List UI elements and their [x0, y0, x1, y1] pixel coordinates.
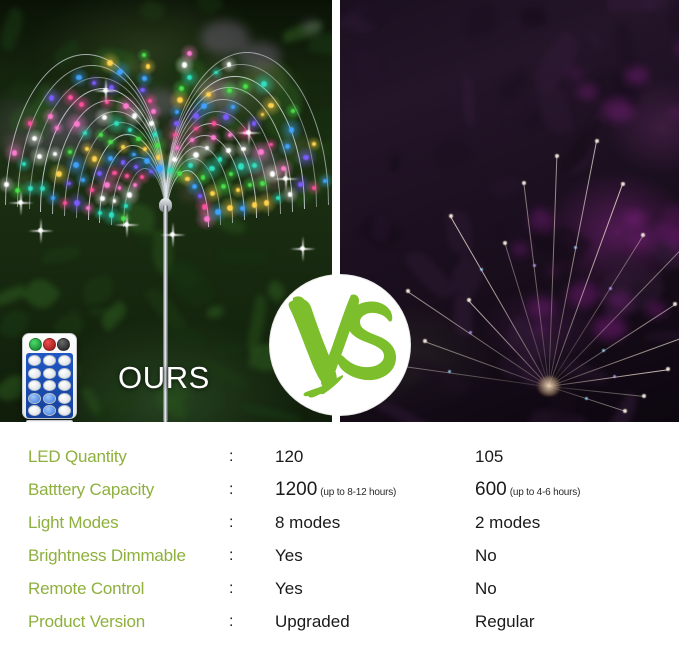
led-bulb [148, 99, 152, 103]
led-bulb [107, 60, 113, 66]
remote-key[interactable] [58, 405, 71, 416]
led-bulb [113, 199, 117, 203]
led-bulb [172, 157, 177, 162]
spec-row: LED Quantity:120105 [0, 440, 679, 473]
wire-hub [536, 376, 562, 396]
led-bulb [51, 196, 55, 200]
led-bulb [74, 200, 80, 206]
spec-label: Light Modes [28, 513, 118, 533]
spec-value-ours-value: Yes [275, 546, 303, 565]
light-sparkle [124, 222, 129, 227]
remote-key[interactable] [43, 355, 56, 366]
spec-row: Brightness Dimmable:YesNo [0, 539, 679, 572]
led-bulb [227, 62, 231, 66]
purple-flower [593, 316, 626, 341]
spec-value-ours-value: Upgraded [275, 612, 350, 631]
led-bulb [79, 102, 84, 107]
led-bulb [175, 146, 179, 150]
led-bulb [269, 143, 273, 147]
led-bulb [609, 287, 612, 290]
spec-value-others-note: (up to 4-6 hours) [510, 487, 581, 498]
wire-tip-led [623, 409, 627, 413]
remote-key[interactable] [43, 368, 56, 379]
remote-mode-button[interactable] [57, 338, 70, 351]
led-bulb [74, 121, 80, 127]
remote-key[interactable] [28, 368, 41, 379]
spec-colon: : [229, 613, 233, 631]
led-bulb [187, 51, 192, 56]
light-sparkle [18, 200, 23, 205]
led-bulb [76, 75, 81, 80]
led-bulb [155, 143, 160, 148]
spec-value-others-value: 2 modes [475, 513, 540, 532]
remote-power-on-button[interactable] [29, 338, 42, 351]
led-bulb [142, 76, 147, 81]
led-bulb [173, 133, 177, 137]
spec-value-others-value: No [475, 546, 497, 565]
vs-brush-icon [281, 291, 399, 399]
wire-tip-led [621, 182, 625, 186]
led-bulb [108, 140, 112, 144]
led-bulb [261, 81, 267, 87]
led-bulb [12, 150, 18, 156]
led-bulb [92, 156, 98, 162]
led-bulb [252, 163, 257, 168]
spec-value-others: Regular [475, 612, 535, 632]
led-bulb [285, 144, 290, 149]
spec-value-ours-note: (up to 8-12 hours) [320, 487, 396, 498]
wire-tip-led [503, 241, 507, 245]
spec-value-others-value: 600 [475, 479, 507, 500]
spec-value-ours-value: 8 modes [275, 513, 340, 532]
spec-value-ours: 1200(up to 8-12 hours) [275, 479, 396, 501]
remote-key[interactable] [58, 393, 71, 404]
light-sparkle [300, 246, 305, 251]
purple-flower [670, 108, 679, 117]
led-bulb [248, 183, 252, 187]
led-bulb [99, 133, 103, 137]
light-sparkle [283, 176, 288, 181]
led-bulb [146, 64, 150, 68]
led-bulb [114, 121, 119, 126]
purple-flower [548, 267, 559, 275]
versus-badge [270, 275, 410, 415]
spec-value-ours-value: 120 [275, 447, 303, 466]
led-bulb [323, 179, 327, 183]
led-bulb [90, 188, 94, 192]
spec-value-ours: 120 [275, 447, 303, 467]
remote-key[interactable] [58, 368, 71, 379]
led-bulb [151, 109, 156, 114]
led-bulb [132, 153, 136, 157]
led-bulb [100, 196, 104, 200]
remote-power-off-button[interactable] [43, 338, 56, 351]
spec-value-others: 105 [475, 447, 503, 467]
purple-flower [629, 229, 659, 252]
led-bulb [211, 135, 215, 139]
led-bulb [144, 158, 150, 164]
led-bulb [121, 160, 125, 164]
led-bulb [258, 149, 264, 155]
led-bulb [97, 171, 102, 176]
spec-value-others: 2 modes [475, 513, 540, 533]
remote-battery-cover [26, 420, 73, 422]
led-bulb [109, 212, 114, 217]
spec-value-others: 600(up to 4-6 hours) [475, 479, 580, 501]
led-bulb [312, 186, 316, 190]
led-bulb [73, 162, 79, 168]
led-bulb [312, 142, 316, 146]
led-bulb [231, 105, 235, 109]
wire-tip-led [522, 181, 526, 185]
spec-label: Product Version [28, 612, 145, 632]
wire-tip-led [406, 289, 410, 293]
light-sparkle [246, 130, 251, 135]
led-bulb [68, 150, 72, 154]
led-bulb [227, 88, 232, 93]
led-bulb [48, 114, 52, 118]
led-bulb [291, 109, 295, 113]
spec-value-ours: Upgraded [275, 612, 350, 632]
led-bulb [49, 95, 54, 100]
led-bulb [55, 126, 59, 130]
led-bulb [142, 53, 146, 57]
remote-key[interactable] [58, 355, 71, 366]
spec-value-others: No [475, 579, 497, 599]
led-bulb [134, 165, 138, 169]
led-bulb [68, 95, 73, 100]
wire-tip-led [595, 139, 599, 143]
spec-row: Remote Control:YesNo [0, 572, 679, 605]
spec-colon: : [229, 547, 233, 565]
spec-row: Batttery Capacity:1200(up to 8-12 hours)… [0, 473, 679, 506]
photo-band: OURS OTHERS [0, 0, 679, 422]
remote-key[interactable] [28, 405, 41, 416]
led-bulb [469, 331, 472, 334]
led-bulb [241, 147, 246, 152]
led-bulb [264, 200, 270, 206]
led-bulb [243, 84, 248, 89]
led-bulb [149, 121, 154, 126]
remote-key[interactable] [43, 380, 56, 391]
led-bulb [81, 178, 85, 182]
led-bulb [125, 174, 129, 178]
spec-value-ours: Yes [275, 546, 303, 566]
led-bulb [190, 138, 194, 142]
led-bulb [136, 137, 141, 142]
spec-colon: : [229, 580, 233, 598]
remote-key[interactable] [43, 393, 56, 404]
led-bulb [123, 103, 129, 109]
purple-flower [528, 213, 555, 233]
blurred-flower [201, 21, 249, 55]
spec-value-others-value: Regular [475, 612, 535, 631]
led-bulb [228, 133, 232, 137]
led-bulb [226, 148, 231, 153]
spec-row: Product Version:UpgradedRegular [0, 605, 679, 638]
led-bulb [221, 184, 227, 190]
led-bulb [268, 103, 274, 109]
spec-colon: : [229, 514, 233, 532]
led-bulb [288, 192, 293, 197]
spec-label: Batttery Capacity [28, 480, 154, 500]
led-bulb [214, 71, 218, 75]
spec-row: Light Modes:8 modes2 modes [0, 506, 679, 539]
purple-flower [567, 282, 600, 307]
led-bulb [252, 121, 257, 126]
led-bulb [153, 132, 157, 136]
led-bulb [104, 182, 110, 188]
led-bulb [92, 81, 96, 85]
light-sparkle [103, 88, 108, 93]
spec-value-others-value: No [475, 579, 497, 598]
spec-comparison-table: LED Quantity:120105Batttery Capacity:120… [0, 440, 679, 638]
label-ours: OURS [118, 360, 210, 396]
remote-key[interactable] [28, 355, 41, 366]
spec-label: LED Quantity [28, 447, 127, 467]
remote-key[interactable] [58, 380, 71, 391]
spec-label: Brightness Dimmable [28, 546, 186, 566]
led-bulb [303, 155, 309, 161]
led-bulb [108, 156, 113, 161]
spec-colon: : [229, 481, 233, 499]
led-bulb [174, 121, 179, 126]
light-sparkle [170, 232, 175, 237]
led-bulb [4, 182, 9, 187]
led-bulb [140, 88, 144, 92]
remote-keypad[interactable] [26, 353, 73, 418]
spec-colon: : [229, 448, 233, 466]
led-bulb [236, 188, 240, 192]
led-bulb [56, 171, 62, 177]
remote-control[interactable] [22, 333, 77, 419]
led-bulb [98, 211, 102, 215]
led-bulb [102, 115, 107, 120]
purple-flower [646, 302, 666, 317]
spec-value-ours: 8 modes [275, 513, 340, 533]
led-bulb [28, 186, 33, 191]
wire-tip-led [423, 339, 427, 343]
spec-label: Remote Control [28, 579, 144, 599]
led-bulb [124, 204, 128, 208]
led-bulb [40, 186, 45, 191]
remote-key[interactable] [28, 380, 41, 391]
led-bulb [22, 162, 26, 166]
led-bulb [179, 86, 184, 91]
led-bulb [85, 147, 89, 151]
spec-value-ours-value: 1200 [275, 479, 317, 500]
wire-tip-led [467, 298, 471, 302]
led-bulb [121, 145, 125, 149]
spec-value-ours: Yes [275, 579, 303, 599]
led-bulb [127, 192, 133, 198]
led-bulb [238, 163, 244, 169]
led-bulb [298, 182, 303, 187]
purple-flower [664, 205, 679, 219]
comparison-infographic: OURS OTHERS [0, 0, 679, 645]
spec-value-others: No [475, 546, 497, 566]
led-bulb [187, 75, 192, 80]
light-sparkle [38, 228, 43, 233]
purple-flower [568, 68, 582, 78]
remote-key[interactable] [43, 405, 56, 416]
led-bulb [53, 152, 57, 156]
led-bulb [32, 136, 37, 141]
led-bulb [63, 201, 67, 205]
spec-value-ours-value: Yes [275, 579, 303, 598]
led-bulb [37, 154, 42, 159]
led-bulb [128, 128, 132, 132]
led-bulb [206, 92, 211, 97]
led-bulb [28, 121, 32, 125]
remote-key[interactable] [28, 393, 41, 404]
spec-value-others-value: 105 [475, 447, 503, 466]
remote-top-buttons [26, 337, 73, 351]
led-bulb [289, 127, 295, 133]
